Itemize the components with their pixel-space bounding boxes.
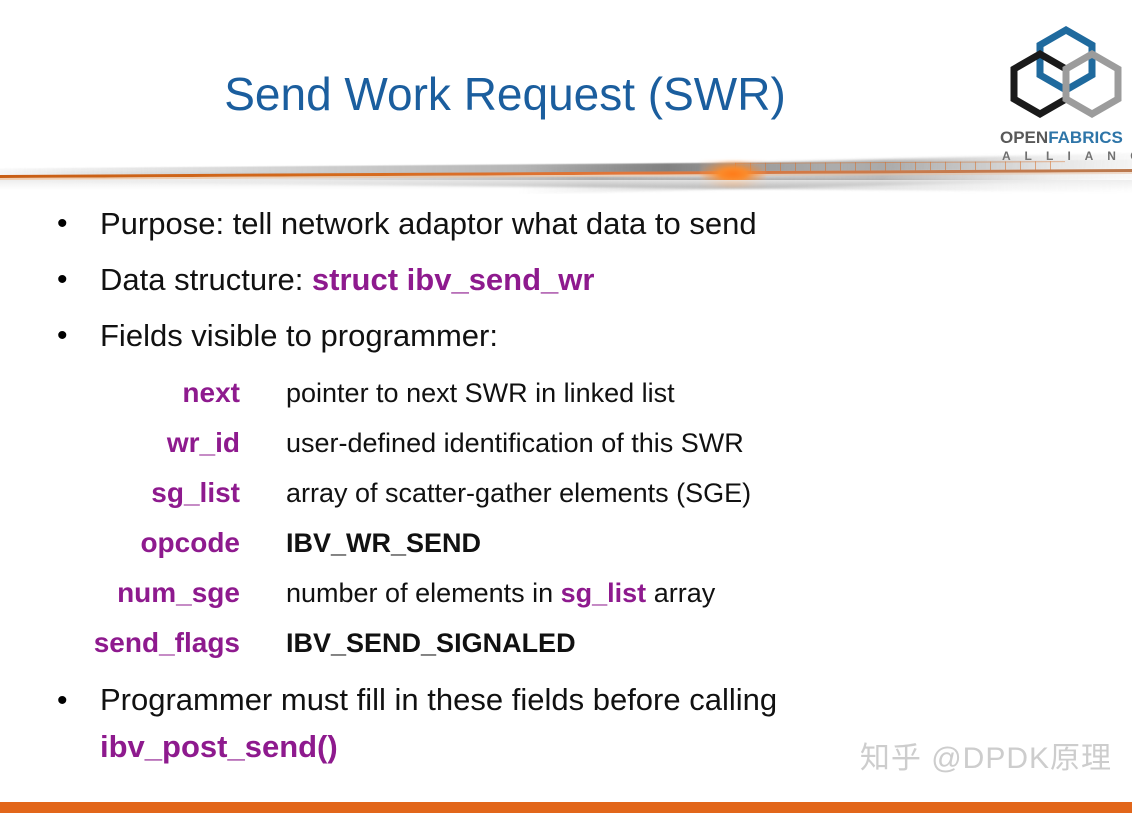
field-name: num_sge [0, 568, 240, 618]
list-item: • Fields visible to programmer: [0, 308, 1132, 364]
divider-soft-shadow [0, 180, 1132, 190]
logo-word-fabrics: FABRICS [1048, 128, 1123, 147]
text-run: pointer to next SWR in linked list [286, 378, 675, 408]
field-name: send_flags [0, 618, 240, 668]
watermark: 知乎 @DPDK原理 [860, 733, 1112, 777]
field-description: IBV_WR_SEND [286, 518, 481, 568]
hexagon-logo-icon [1000, 24, 1132, 128]
bullet-text: Data structure: struct ibv_send_wr [100, 252, 1072, 308]
text-run: IBV_WR_SEND [286, 528, 481, 558]
text-run: user-defined identification of this SWR [286, 428, 744, 458]
bullet-dot-icon: • [57, 252, 68, 308]
slide-body: • Purpose: tell network adaptor what dat… [0, 196, 1132, 770]
field-description: user-defined identification of this SWR [286, 418, 744, 468]
table-row: num_sge number of elements in sg_list ar… [0, 568, 1132, 618]
text-run: Data structure: [100, 262, 312, 297]
text-run: sg_list [561, 578, 647, 608]
bullet-dot-icon: • [57, 196, 68, 252]
field-description: IBV_SEND_SIGNALED [286, 618, 576, 668]
logo-word-open: OPEN [1000, 128, 1048, 147]
text-run: Fields visible to programmer: [100, 318, 498, 353]
table-row: wr_id user-defined identification of thi… [0, 418, 1132, 468]
table-row: next pointer to next SWR in linked list [0, 368, 1132, 418]
slide: Send Work Request (SWR) OPENFABRICS A L … [0, 0, 1132, 813]
logo-wordmark: OPENFABRICS [1000, 128, 1132, 147]
field-name: sg_list [0, 468, 240, 518]
list-item: • Purpose: tell network adaptor what dat… [0, 196, 1132, 252]
bullet-dot-icon: • [57, 676, 68, 726]
text-run: Purpose: tell network adaptor what data … [100, 206, 757, 241]
field-name: next [0, 368, 240, 418]
text-run: number of elements in [286, 578, 561, 608]
bullet-text: Programmer must fill in these fields bef… [100, 676, 962, 770]
field-table: next pointer to next SWR in linked list … [0, 368, 1132, 668]
list-item: • Data structure: struct ibv_send_wr [0, 252, 1132, 308]
text-run: IBV_SEND_SIGNALED [286, 628, 576, 658]
table-row: send_flags IBV_SEND_SIGNALED [0, 618, 1132, 668]
openfabrics-logo: OPENFABRICS A L L I A N C E [1000, 24, 1132, 158]
table-row: opcode IBV_WR_SEND [0, 518, 1132, 568]
table-row: sg_list array of scatter-gather elements… [0, 468, 1132, 518]
bullet-text: Purpose: tell network adaptor what data … [100, 196, 1072, 252]
text-run: struct ibv_send_wr [312, 262, 595, 297]
text-run: Programmer must fill in these fields bef… [100, 682, 777, 717]
bullet-dot-icon: • [57, 308, 68, 364]
bullet-list: • Purpose: tell network adaptor what dat… [0, 196, 1132, 364]
text-run: array of scatter-gather elements (SGE) [286, 478, 751, 508]
text-run: ibv_post_send() [100, 729, 338, 764]
header-divider [0, 152, 1132, 194]
field-description: pointer to next SWR in linked list [286, 368, 675, 418]
bottom-accent-bar [0, 802, 1132, 813]
bullet-text: Fields visible to programmer: [100, 308, 1072, 364]
field-description: array of scatter-gather elements (SGE) [286, 468, 751, 518]
field-description: number of elements in sg_list array [286, 568, 715, 618]
field-name: wr_id [0, 418, 240, 468]
field-name: opcode [0, 518, 240, 568]
page-title: Send Work Request (SWR) [0, 66, 1010, 122]
text-run: array [646, 578, 715, 608]
